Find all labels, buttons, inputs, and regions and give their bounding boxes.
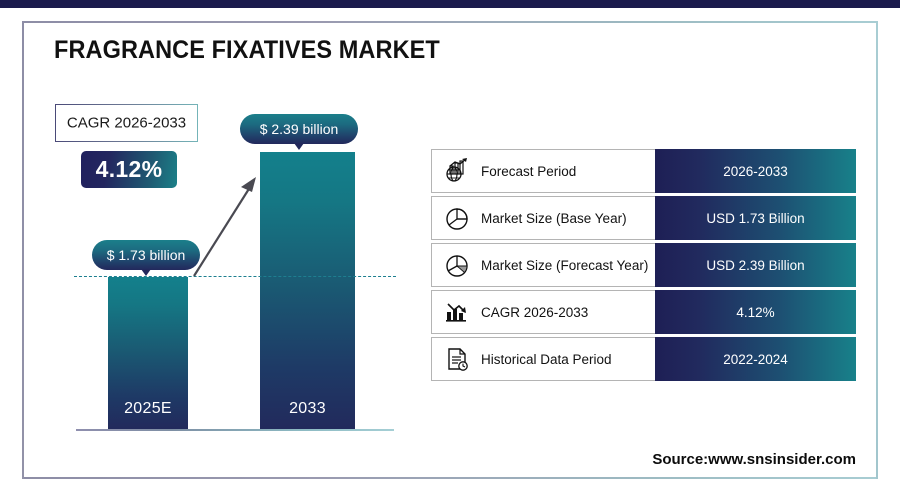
- table-row: Historical Data Period 2022-2024: [431, 337, 856, 381]
- spec-value: 4.12%: [736, 305, 774, 320]
- spec-label: Forecast Period: [481, 164, 576, 179]
- value-pill-2025e: $ 1.73 billion: [92, 240, 200, 270]
- globe-growth-chart-icon: [442, 156, 472, 186]
- spec-label-cell: Market Size (Forecast Year): [431, 243, 655, 287]
- bar-2033: 2033: [260, 152, 355, 429]
- spec-value-cell: 2022-2024: [655, 337, 856, 381]
- table-row: Market Size (Base Year) USD 1.73 Billion: [431, 196, 856, 240]
- bar-label-2033: 2033: [260, 400, 355, 418]
- spec-label-cell: Forecast Period: [431, 149, 655, 193]
- page-title: FRAGRANCE FIXATIVES MARKET: [54, 36, 440, 65]
- frame-border-top: [22, 21, 878, 23]
- value-pill-2033: $ 2.39 billion: [240, 114, 358, 144]
- bar-label-2025e: 2025E: [108, 400, 188, 418]
- pill-pointer: [294, 143, 304, 150]
- growth-arrow-icon: [190, 170, 264, 280]
- market-spec-table: Forecast Period 2026-2033 Market Size (B…: [431, 149, 856, 384]
- spec-label: Market Size (Base Year): [481, 211, 627, 226]
- spec-value-cell: USD 2.39 Billion: [655, 243, 856, 287]
- frame-border-right: [876, 21, 878, 479]
- pill-pointer: [141, 269, 151, 276]
- spec-label-cell: Historical Data Period: [431, 337, 655, 381]
- spec-label: CAGR 2026-2033: [481, 305, 588, 320]
- bar-chart-declining-arrow-icon: [442, 297, 472, 327]
- spec-value-cell: 4.12%: [655, 290, 856, 334]
- document-clock-icon: [442, 344, 472, 374]
- pie-chart-quarter-icon: [442, 203, 472, 233]
- spec-value: 2022-2024: [723, 352, 788, 367]
- spec-label-cell: Market Size (Base Year): [431, 196, 655, 240]
- spec-value: USD 2.39 Billion: [706, 258, 804, 273]
- value-pill-2025e-text: $ 1.73 billion: [107, 247, 186, 263]
- table-row: Forecast Period 2026-2033: [431, 149, 856, 193]
- source-attribution: Source:www.snsinsider.com: [652, 451, 856, 468]
- bar-2025e: 2025E: [108, 277, 188, 429]
- spec-label-cell: CAGR 2026-2033: [431, 290, 655, 334]
- table-row: CAGR 2026-2033 4.12%: [431, 290, 856, 334]
- pie-chart-thirds-icon: [442, 250, 472, 280]
- spec-value-cell: USD 1.73 Billion: [655, 196, 856, 240]
- chart-axis-line: [76, 429, 394, 431]
- frame-border-bottom: [22, 477, 878, 479]
- spec-label: Historical Data Period: [481, 352, 612, 367]
- top-accent-bar: [0, 0, 900, 8]
- value-pill-2033-text: $ 2.39 billion: [260, 121, 339, 137]
- spec-value-cell: 2026-2033: [655, 149, 856, 193]
- spec-label: Market Size (Forecast Year): [481, 258, 648, 273]
- market-size-bar-chart: 2025E 2033: [60, 110, 400, 430]
- spec-value: USD 1.73 Billion: [706, 211, 804, 226]
- frame-border-left: [22, 21, 24, 479]
- table-row: Market Size (Forecast Year) USD 2.39 Bil…: [431, 243, 856, 287]
- spec-value: 2026-2033: [723, 164, 788, 179]
